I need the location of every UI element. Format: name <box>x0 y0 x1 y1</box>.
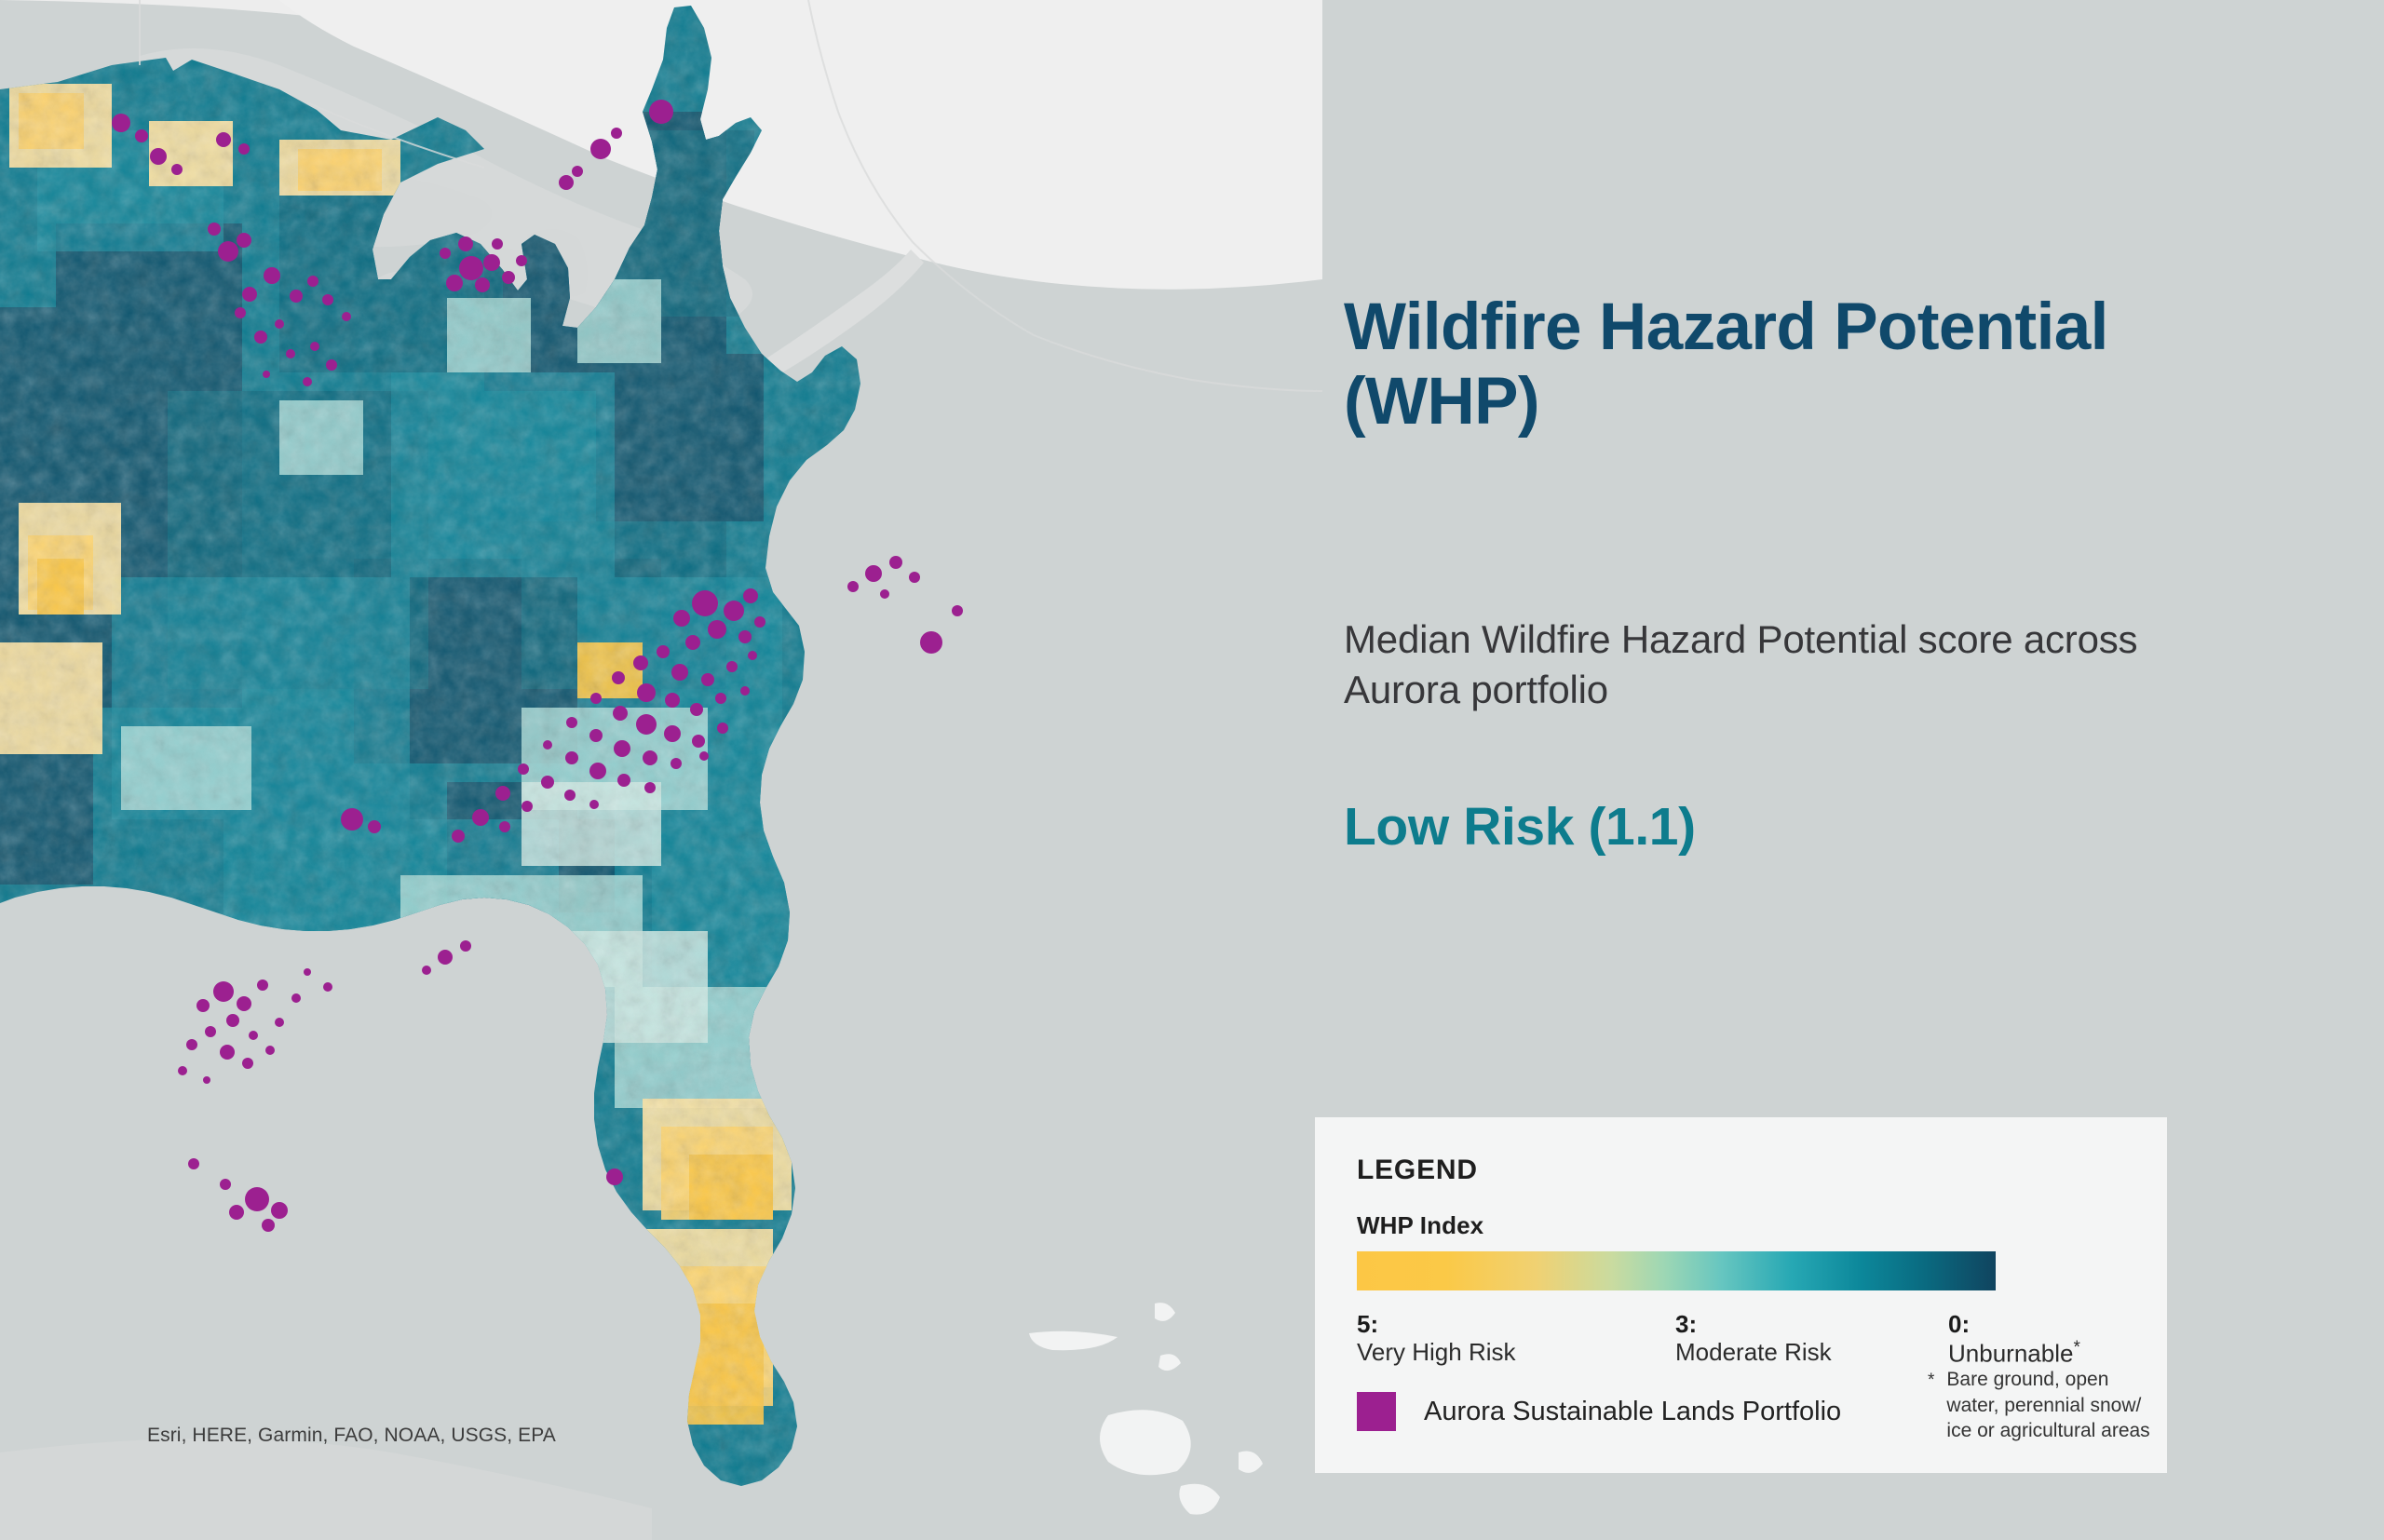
page-title: Wildfire Hazard Potential (WHP) <box>1344 290 2145 439</box>
legend-portfolio-row: Aurora Sustainable Lands Portfolio <box>1357 1392 1841 1431</box>
footnote-text: Bare ground, open water, perennial snow/… <box>1946 1367 2165 1444</box>
tick-label: Moderate Risk <box>1675 1338 1832 1367</box>
wildfire-hazard-map[interactable]: Esri, HERE, Garmin, FAO, NOAA, USGS, EPA <box>0 0 1322 1540</box>
map-raster-svg <box>0 0 1322 1540</box>
asterisk-marker: * <box>2073 1338 2079 1358</box>
tick-number: 3: <box>1675 1311 1832 1338</box>
risk-score-value: Low Risk (1.1) <box>1344 796 1696 858</box>
tick-number: 5: <box>1357 1311 1516 1338</box>
tick-label: Very High Risk <box>1357 1338 1516 1367</box>
tick-label-text: Unburnable <box>1948 1340 2073 1368</box>
whp-index-colorbar <box>1357 1251 1996 1290</box>
map-attribution: Esri, HERE, Garmin, FAO, NOAA, USGS, EPA <box>147 1425 556 1447</box>
footnote-marker: * <box>1928 1367 1934 1444</box>
colorbar-tick-moderate: 3: Moderate Risk <box>1675 1311 1832 1367</box>
tick-label: Unburnable* <box>1948 1338 2080 1368</box>
legend-subtitle: WHP Index <box>1357 1211 1483 1240</box>
portfolio-label: Aurora Sustainable Lands Portfolio <box>1424 1397 1841 1427</box>
subtitle-text: Median Wildfire Hazard Potential score a… <box>1344 615 2201 715</box>
tick-number: 0: <box>1948 1311 2080 1338</box>
legend-title: LEGEND <box>1357 1155 1478 1186</box>
legend-footnote: * Bare ground, open water, perennial sno… <box>1928 1367 2165 1444</box>
legend-panel: LEGEND WHP Index 5: Very High Risk 3: Mo… <box>1315 1117 2167 1473</box>
slide-canvas: Esri, HERE, Garmin, FAO, NOAA, USGS, EPA… <box>0 0 2384 1540</box>
colorbar-tick-very-high: 5: Very High Risk <box>1357 1311 1516 1367</box>
colorbar-tick-unburnable: 0: Unburnable* <box>1948 1311 2080 1368</box>
portfolio-color-swatch <box>1357 1392 1396 1431</box>
